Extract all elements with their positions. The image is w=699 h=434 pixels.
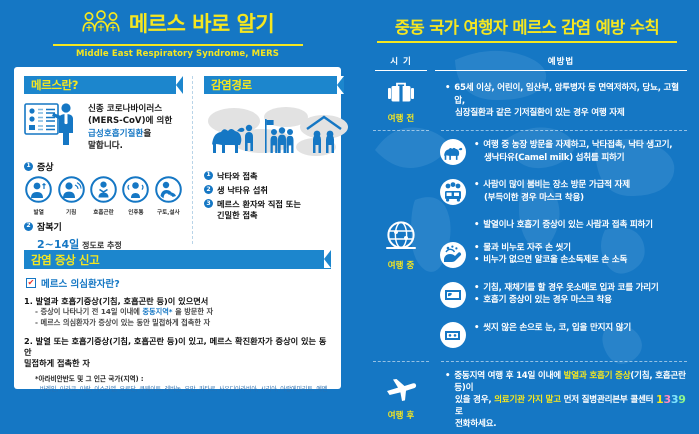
what-is-mers-section: 메르스란? xyxy=(24,76,192,244)
when-cell-before: 여행 전 xyxy=(367,80,435,124)
section-divider xyxy=(367,361,687,362)
advice-text: 심장질환과 같은 기저질환이 있는 경우 여행 자제 xyxy=(455,107,625,119)
fever-icon xyxy=(25,188,52,207)
camel-people-house-map-icon xyxy=(204,101,344,163)
advice-line: • 65세 이상, 어린이, 임산부, 암투병자 등 면역저하자, 당뇨, 고혈… xyxy=(445,82,687,106)
handwash-icon xyxy=(439,240,467,273)
report-item: 1. 발열과 호흡기증상(기침, 호흡곤란 등)이 있으면서 - 증상이 나타나… xyxy=(24,296,331,329)
check-mark-icon: ✔ xyxy=(28,279,35,287)
advice-line: • 기침, 재채기를 할 경우 옷소매로 입과 코를 가리기 xyxy=(474,282,659,294)
airplane-icon xyxy=(385,377,417,407)
crowd-icon xyxy=(439,177,467,210)
bullet: • xyxy=(445,82,450,106)
incubation-value: 2~14일 xyxy=(37,238,79,251)
incubation-heading: 2 잠복기 xyxy=(24,220,183,233)
suspected-case-label: 메르스 의심환자란? xyxy=(41,276,120,290)
bullet: • xyxy=(474,139,479,151)
when-label-after: 여행 후 xyxy=(388,409,414,421)
symptoms-list: 발열 기침 xyxy=(24,176,183,216)
bullet: • xyxy=(474,242,479,254)
advice-group: • 65세 이상, 어린이, 임산부, 암투병자 등 면역저하자, 당뇨, 고혈… xyxy=(439,80,687,119)
no-face-touch-icon xyxy=(439,320,467,353)
when-label-during: 여행 중 xyxy=(388,259,414,271)
suspected-case-heading: ✔ 메르스 의심환자란? xyxy=(26,276,331,290)
advice-text: 있을 경우, 의료기관 가지 말고 먼저 질병관리본부 콜센터 1339 로 xyxy=(455,394,687,418)
advice-line: 있을 경우, 의료기관 가지 말고 먼저 질병관리본부 콜센터 1339 로 xyxy=(445,394,687,418)
camel-icon xyxy=(439,137,467,170)
report-item-main: 2. 발열 또는 호흡기증상(기침, 호흡곤란 등)이 있고, 메르스 확진환자… xyxy=(24,336,331,369)
region-note-countries: 바레인, 이라크, 이란, 이스라엘, 요르단, 쿠웨이트, 레바논, 오만, … xyxy=(40,384,331,393)
right-panel: 중동 국가 여행자 메르스 감염 예방 수칙 시 기 예방법 xyxy=(355,0,699,434)
advice-cell-after: • 중동지역 여행 후 14일 이내에 발열과 호흡기 증상(기침, 호흡곤란 … xyxy=(435,368,687,431)
advice-text: 호흡기 증상이 있는 경우 마스크 착용 xyxy=(483,294,612,306)
advice-group: • 물과 비누로 자주 손 씻기 • 비누가 없으면 알코올 손소독제로 손 소… xyxy=(439,240,687,273)
right-title-divider xyxy=(377,41,677,43)
report-banner-label: 감염 증상 신고 xyxy=(31,252,99,268)
bullet: • xyxy=(474,179,479,191)
route-item: 3 메르스 환자와 직접 또는 긴밀한 접촉 xyxy=(204,199,344,220)
definition-line-3: 급성호흡기질환을 xyxy=(88,128,172,140)
advice-cell-during: • 여행 중 농장 방문을 자제하고, 낙타접촉, 낙타 생고기, 생낙타유(C… xyxy=(435,137,687,352)
definition-line-1: 신종 코로나바이러스 xyxy=(88,103,172,115)
when-cell-after: 여행 후 xyxy=(367,368,435,431)
sore-throat-icon xyxy=(122,188,149,207)
advice-line: (부득이한 경우 마스크 착용) xyxy=(474,192,630,204)
symptoms-number-badge: 1 xyxy=(24,162,33,171)
infection-route-banner-label: 감염경로 xyxy=(211,77,252,93)
info-card: 메르스란? xyxy=(14,67,341,389)
page-title: 메르스 바로 알기 xyxy=(129,14,274,35)
report-item: 2. 발열 또는 호흡기증상(기침, 호흡곤란 등)이 있고, 메르스 확진환자… xyxy=(24,336,331,369)
advice-group: • 중동지역 여행 후 14일 이내에 발열과 호흡기 증상(기침, 호흡곤란 … xyxy=(439,368,687,431)
section-during-travel: 여행 중 • 여행 중 농장 방문을 자제하고, 낙타접촉, 낙타 생고기, 생… xyxy=(367,137,687,352)
advice-text: 발열이나 호흡기 증상이 있는 사람과 접촉 피하기 xyxy=(483,219,653,231)
advice-text: 씻지 않은 손으로 눈, 코, 입을 만지지 않기 xyxy=(483,322,631,334)
bullet: • xyxy=(445,370,450,394)
definition-line-4: 말합니다. xyxy=(88,140,172,152)
vomiting-diarrhea-icon xyxy=(155,188,182,207)
advice-cell-before: • 65세 이상, 어린이, 임산부, 암투병자 등 면역저하자, 당뇨, 고혈… xyxy=(435,80,687,124)
suitcase-icon xyxy=(386,80,416,110)
report-item-sub: - 증상이 나타나기 전 14일 이내에 중동지역* 을 방문한 자 xyxy=(35,307,331,318)
advice-text: 비누가 없으면 알코올 손소독제로 손 소독 xyxy=(483,254,627,266)
advice-text: 사람이 많이 붐비는 장소 방문 가급적 자제 xyxy=(483,179,630,191)
advice-line: 전화하세요. xyxy=(445,418,687,430)
advice-line: • 여행 중 농장 방문을 자제하고, 낙타접촉, 낙타 생고기, xyxy=(474,139,672,151)
report-banner: 감염 증상 신고 xyxy=(24,250,331,269)
route-number-badge: 1 xyxy=(204,171,213,180)
what-is-mers-banner: 메르스란? xyxy=(24,76,183,94)
infection-route-list: 1 낙타와 접촉 2 생 낙타유 섭취 3 메르스 환자와 직접 또는 긴밀한 … xyxy=(204,171,344,221)
advice-line: 생낙타유(Camel milk) 섭취를 피하기 xyxy=(474,152,672,164)
report-sub-post: 을 방문한 자 xyxy=(173,307,214,316)
advice-text: 중동지역 여행 후 14일 이내에 발열과 호흡기 증상(기침, 호흡곤란 등)… xyxy=(454,370,687,394)
incubation-number-badge: 2 xyxy=(24,222,33,231)
symptom-label: 기침 xyxy=(56,208,85,216)
incubation-tail: 정도로 추정 xyxy=(82,241,122,250)
route-item-text: 생 낙타유 섭취 xyxy=(217,185,268,196)
symptom-label: 구토,설사 xyxy=(154,208,183,216)
advice-text: 전화하세요. xyxy=(455,418,496,430)
column-header-how: 예방법 xyxy=(435,55,687,70)
section-divider xyxy=(367,130,687,131)
advice-line: • 씻지 않은 손으로 눈, 코, 입을 만지지 않기 xyxy=(474,322,631,334)
incubation-heading-label: 잠복기 xyxy=(37,220,62,233)
infection-route-section: 감염경로 xyxy=(192,76,344,244)
report-section: 감염 증상 신고 ✔ 메르스 의심환자란? 1. 발열과 호흡기증상(기침, 호… xyxy=(24,250,331,393)
symptom-label: 발열 xyxy=(24,208,53,216)
symptom-item: 발열 xyxy=(24,176,53,216)
dyspnea-icon xyxy=(90,188,117,207)
doctor-presentation-icon xyxy=(24,101,82,151)
definition-highlight: 급성호흡기질환 xyxy=(88,129,143,139)
route-number-badge: 2 xyxy=(204,185,213,194)
left-header: 메르스 바로 알기 Middle East Respiratory Syndro… xyxy=(14,6,341,59)
advice-line: • 물과 비누로 자주 손 씻기 xyxy=(474,242,627,254)
route-item: 1 낙타와 접촉 xyxy=(204,171,344,182)
globe-icon xyxy=(384,219,418,257)
three-people-icon xyxy=(81,10,121,39)
bullet: • xyxy=(474,322,479,334)
mers-definition-text: 신종 코로나바이러스 (MERS-CoV)에 의한 급성호흡기질환을 말합니다. xyxy=(88,101,172,153)
section-before-travel: 여행 전 • 65세 이상, 어린이, 임산부, 암투병자 등 면역저하자, 당… xyxy=(367,80,687,124)
advice-line: • 중동지역 여행 후 14일 이내에 발열과 호흡기 증상(기침, 호흡곤란 … xyxy=(445,370,687,394)
advice-text: 생낙타유(Camel milk) 섭취를 피하기 xyxy=(484,152,624,164)
symptom-item: 기침 xyxy=(56,176,85,216)
advice-highlight: 발열과 호흡기 증상 xyxy=(564,371,631,381)
advice-highlight: 의료기관 가지 말고 xyxy=(494,395,561,405)
route-item-text: 메르스 환자와 직접 또는 긴밀한 접촉 xyxy=(217,199,301,220)
when-cell-during: 여행 중 xyxy=(367,137,435,352)
advice-group: • 기침, 재채기를 할 경우 옷소매로 입과 코를 가리기 • 호흡기 증상이… xyxy=(439,280,687,313)
bullet: • xyxy=(474,282,479,294)
bullet: • xyxy=(474,219,479,231)
table-header: 시 기 예방법 xyxy=(367,55,687,71)
section-after-travel: 여행 후 • 중동지역 여행 후 14일 이내에 발열과 호흡기 증상(기침, … xyxy=(367,368,687,431)
route-item: 2 생 낙타유 섭취 xyxy=(204,185,344,196)
symptom-item: 인후통 xyxy=(121,176,150,216)
cover-cough-icon xyxy=(439,280,467,313)
advice-group: • 씻지 않은 손으로 눈, 코, 입을 만지지 않기 xyxy=(439,320,687,353)
advice-line: • 비누가 없으면 알코올 손소독제로 손 소독 xyxy=(474,254,627,266)
report-item-main: 1. 발열과 호흡기증상(기침, 호흡곤란 등)이 있으면서 xyxy=(24,296,331,307)
advice-line: 심장질환과 같은 기저질환이 있는 경우 여행 자제 xyxy=(445,107,687,119)
symptoms-heading: 1 증상 xyxy=(24,160,183,173)
advice-text: 물과 비누로 자주 손 씻기 xyxy=(483,242,571,254)
checkbox-icon: ✔ xyxy=(26,278,36,288)
symptom-label: 호흡곤란 xyxy=(89,208,118,216)
column-rule xyxy=(375,70,427,71)
definition-line-3-tail: 을 xyxy=(143,129,151,139)
advice-text: 65세 이상, 어린이, 임산부, 암투병자 등 면역저하자, 당뇨, 고혈압, xyxy=(454,82,687,106)
advice-text: 여행 중 농장 방문을 자제하고, 낙타접촉, 낙타 생고기, xyxy=(483,139,672,151)
what-is-mers-banner-label: 메르스란? xyxy=(31,77,78,93)
region-note-title: *아라비안반도 및 그 인근 국가(지역) : xyxy=(35,373,331,383)
left-panel: 메르스 바로 알기 Middle East Respiratory Syndro… xyxy=(0,0,355,434)
column-header-when: 시 기 xyxy=(367,55,435,70)
advice-text: (부득이한 경우 마스크 착용) xyxy=(484,192,584,204)
right-panel-title: 중동 국가 여행자 메르스 감염 예방 수칙 xyxy=(367,0,687,38)
route-number-badge: 3 xyxy=(204,199,213,208)
advice-text: 기침, 재채기를 할 경우 옷소매로 입과 코를 가리기 xyxy=(483,282,658,294)
advice-group: • 발열이나 호흡기 증상이 있는 사람과 접촉 피하기 xyxy=(439,217,687,231)
definition-line-2: (MERS-CoV)에 의한 xyxy=(88,115,172,127)
page-subtitle: Middle East Respiratory Syndrome, MERS xyxy=(14,49,341,59)
column-rule xyxy=(435,70,687,71)
symptom-item: 호흡곤란 xyxy=(89,176,118,216)
when-label-before: 여행 전 xyxy=(388,112,414,124)
right-header: 중동 국가 여행자 메르스 감염 예방 수칙 시 기 예방법 xyxy=(367,0,687,71)
advice-line: • 호흡기 증상이 있는 경우 마스크 착용 xyxy=(474,294,659,306)
hotline-number: 1339 xyxy=(656,394,686,405)
title-divider xyxy=(53,44,303,46)
symptoms-heading-label: 증상 xyxy=(37,160,54,173)
advice-group: • 여행 중 농장 방문을 자제하고, 낙타접촉, 낙타 생고기, 생낙타유(C… xyxy=(439,137,687,170)
report-sub-pre: - 증상이 나타나기 전 14일 이내에 xyxy=(35,307,142,316)
advice-line: • 사람이 많이 붐비는 장소 방문 가급적 자제 xyxy=(474,179,630,191)
route-item-text: 낙타와 접촉 xyxy=(217,171,258,182)
bullet: • xyxy=(474,294,479,306)
report-item-sub: - 메르스 의심환자가 증상이 있는 동안 밀접하게 접촉한 자 xyxy=(35,318,331,329)
infection-route-banner: 감염경로 xyxy=(204,76,344,94)
symptom-label: 인후통 xyxy=(121,208,150,216)
symptom-item: 구토,설사 xyxy=(154,176,183,216)
report-sub-highlight: 중동지역* xyxy=(142,307,172,316)
advice-line: • 발열이나 호흡기 증상이 있는 사람과 접촉 피하기 xyxy=(474,219,653,231)
advice-group: • 사람이 많이 붐비는 장소 방문 가급적 자제 (부득이한 경우 마스크 착… xyxy=(439,177,687,210)
cough-icon xyxy=(58,188,85,207)
bullet: • xyxy=(474,254,479,266)
